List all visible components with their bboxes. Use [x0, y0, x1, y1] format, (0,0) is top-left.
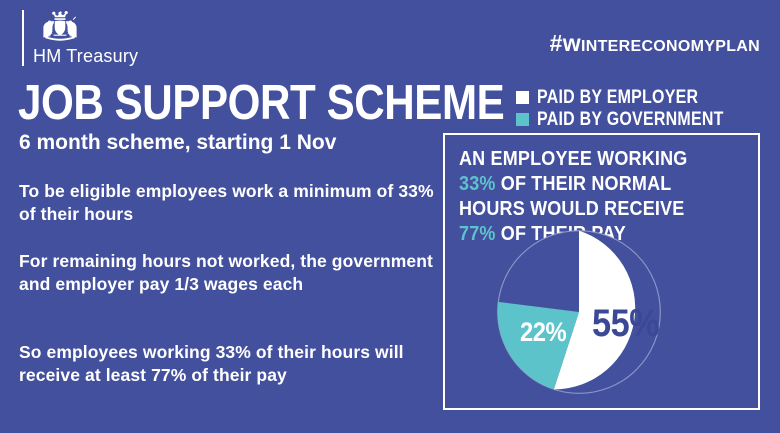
- hm-treasury-logo: HM Treasury: [22, 10, 138, 66]
- pie-chart-panel: AN EMPLOYEE WORKING 33% OF THEIR NORMAL …: [443, 133, 760, 410]
- logo-divider-rule: [22, 10, 24, 66]
- legend-item-employer-label: PAID BY EMPLOYER: [537, 88, 698, 107]
- bullet-cost-sharing: For remaining hours not worked, the gove…: [19, 250, 449, 296]
- pie-label-government: 22%: [520, 319, 566, 346]
- logo-body: HM Treasury: [33, 10, 138, 66]
- heading-text-1: AN EMPLOYEE WORKING: [459, 148, 687, 170]
- royal-coat-of-arms-icon: [33, 10, 87, 44]
- page-title: JOB SUPPORT SCHEME: [18, 78, 504, 128]
- heading-highlight-33: 33%: [459, 173, 496, 195]
- pie-chart: 55% 22%: [496, 229, 662, 395]
- heading-highlight-77: 77%: [459, 223, 496, 245]
- legend-item-government: PAID BY GOVERNMENT: [516, 110, 759, 129]
- chart-legend: PAID BY EMPLOYER PAID BY GOVERNMENT: [516, 88, 759, 129]
- organisation-name: HM Treasury: [33, 46, 138, 66]
- white-square-icon: [516, 91, 529, 104]
- bullet-eligibility: To be eligible employees work a minimum …: [19, 180, 449, 226]
- legend-item-government-label: PAID BY GOVERNMENT: [537, 110, 724, 129]
- legend-item-employer: PAID BY EMPLOYER: [516, 88, 729, 107]
- campaign-hashtag: #WinterEconomyPlan: [550, 30, 760, 57]
- teal-square-icon: [516, 113, 529, 126]
- bullet-outcome: So employees working 33% of their hours …: [19, 341, 449, 387]
- pie-label-employer: 55%: [592, 304, 659, 343]
- page-subtitle: 6 month scheme, starting 1 Nov: [19, 131, 336, 155]
- infographic-poster: HM Treasury #WinterEconomyPlan JOB SUPPO…: [0, 0, 780, 433]
